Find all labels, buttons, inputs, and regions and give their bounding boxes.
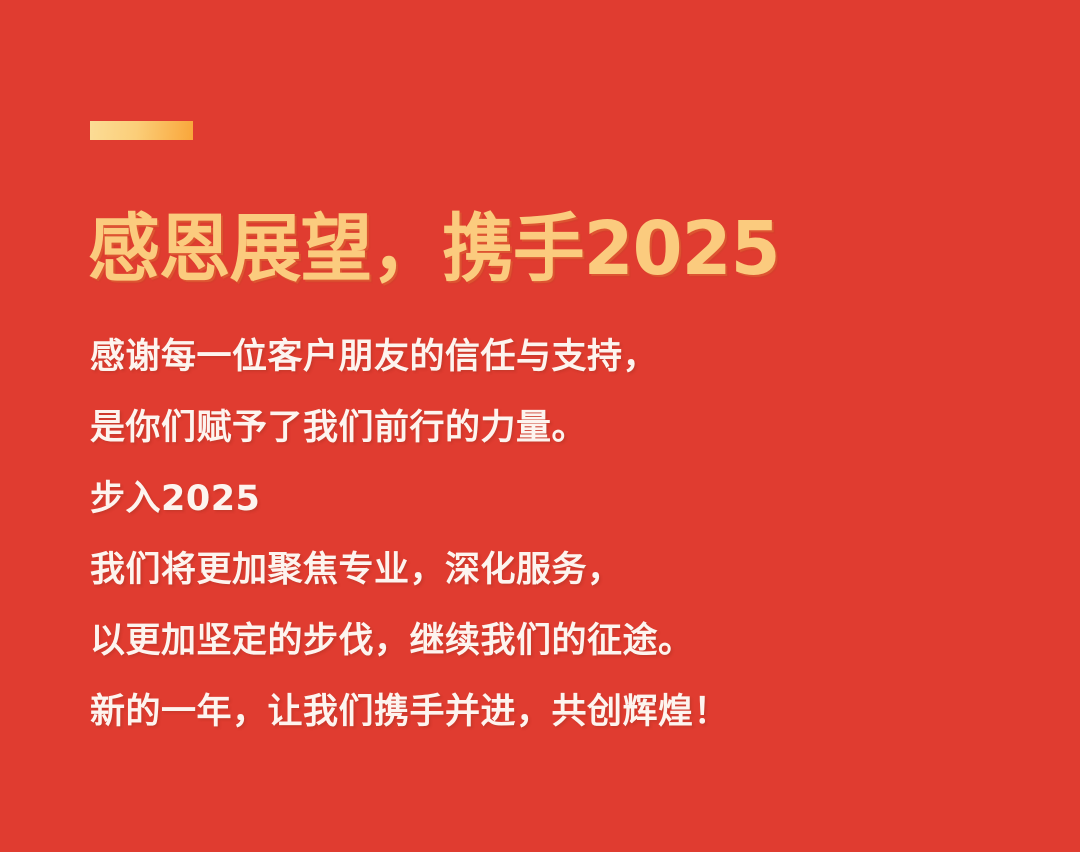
accent-bar-decoration	[90, 121, 193, 140]
copy-line: 步入2025	[90, 464, 990, 535]
copy-line: 我们将更加聚焦专业，深化服务，	[90, 535, 990, 606]
page-title: 感恩展望，携手2025	[88, 206, 780, 292]
copy-line: 新的一年，让我们携手并进，共创辉煌！	[90, 677, 990, 748]
body-copy-block: 感谢每一位客户朋友的信任与支持， 是你们赋予了我们前行的力量。 步入2025 我…	[90, 322, 990, 748]
copy-line: 感谢每一位客户朋友的信任与支持，	[90, 322, 990, 393]
copy-line: 以更加坚定的步伐，继续我们的征途。	[90, 606, 990, 677]
poster-canvas: 感恩展望，携手2025 感谢每一位客户朋友的信任与支持， 是你们赋予了我们前行的…	[0, 0, 1080, 852]
copy-line: 是你们赋予了我们前行的力量。	[90, 393, 990, 464]
